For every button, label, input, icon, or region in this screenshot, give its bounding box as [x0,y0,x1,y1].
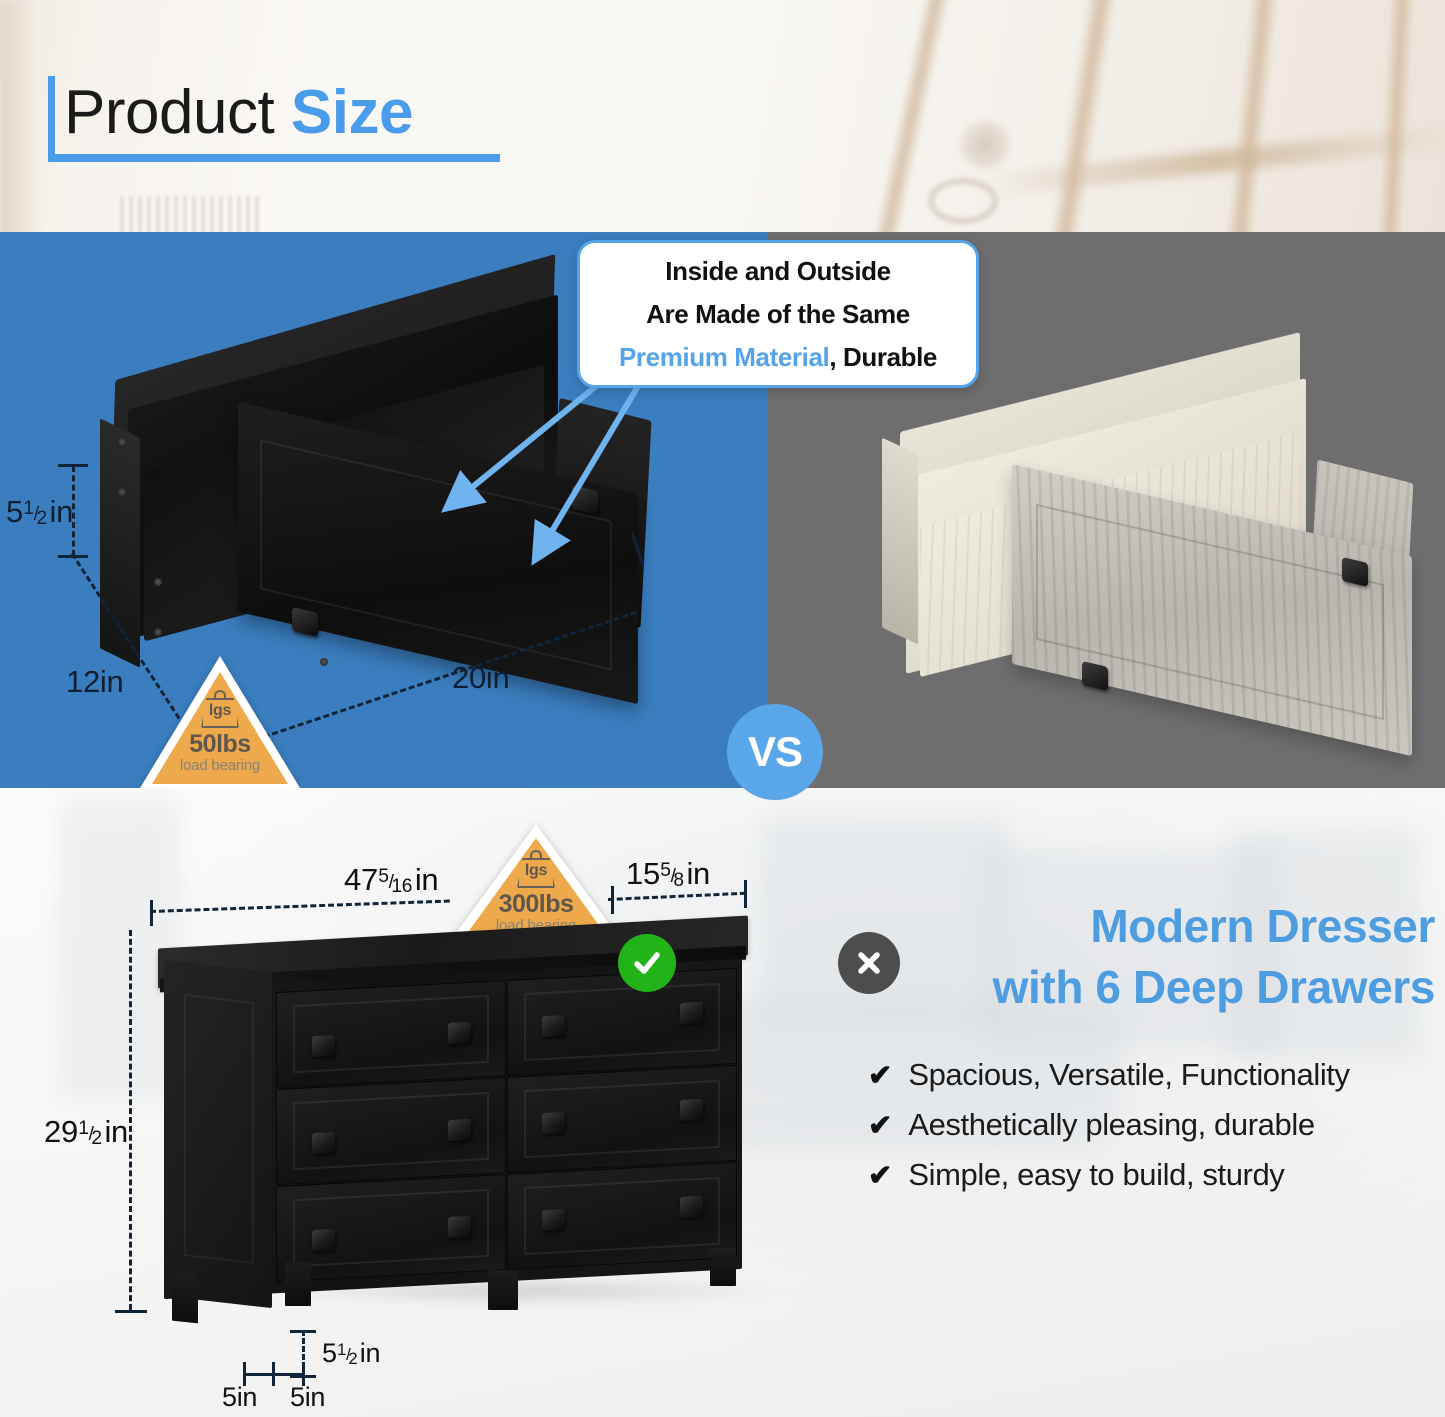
dresser-knob[interactable] [542,1209,565,1231]
background-frame-decor [120,196,260,236]
dim-cap-leg-height-top [290,1330,316,1333]
dim-unit: in [686,856,710,891]
weight-icon-label: lgs [195,702,245,720]
ceiling-beam [1222,0,1285,236]
badge-caption: load bearing [140,757,300,774]
dim-label-leg-width-left: 5in [222,1382,257,1413]
dim-whole: 47 [344,862,378,897]
dresser-drawer[interactable] [276,980,506,1088]
dim-unit: in [360,1338,380,1368]
dim-num: 1 [337,1340,346,1359]
feature-item: ✔ Simple, easy to build, sturdy [868,1158,1438,1192]
dim-whole: 5 [6,494,23,529]
ceiling-beam [1044,0,1125,236]
dim-whole: 5 [322,1338,337,1368]
gray-drawer-knob [1082,661,1108,691]
dresser-leg [172,1273,198,1324]
drawer-screw [118,438,126,446]
callout-line-3: Premium Material, Durable [596,344,960,370]
gray-drawer-left-wall [882,438,918,645]
dim-cap-leg-mid [272,1362,275,1386]
wall-left-blur [0,0,40,236]
dim-cap-dresser-depth-end [744,880,747,908]
dresser-knob[interactable] [680,1196,703,1218]
dresser-drawer[interactable] [276,1077,506,1185]
feature-label: Aesthetically pleasing, durable [908,1108,1314,1142]
dim-unit: in [104,1114,128,1149]
premium-material-callout: Inside and Outside Are Made of the Same … [577,240,979,388]
weight-icon: lgs [195,690,245,728]
check-icon: ✔ [868,1162,892,1191]
vs-badge: VS [727,704,823,800]
dim-whole: 15 [626,856,660,891]
gray-drawer-illustration [860,382,1440,772]
vs-label: VS [748,728,802,776]
page-title: Product Size [48,72,518,162]
drawer-screw [118,488,126,496]
close-icon [853,947,885,979]
dim-cap-dresser-height-bottom [115,1310,147,1313]
dim-den: 2 [36,508,46,529]
weight-icon-label: lgs [511,862,561,880]
dim-unit: in [415,862,439,897]
dim-label-drawer-depth: 12in [66,664,123,700]
feature-item: ✔ Aesthetically pleasing, durable [868,1108,1438,1142]
drawer-screw [154,628,162,636]
callout-arrow-exterior [508,360,658,580]
badge-weight: 50lbs [140,731,300,757]
dim-unit: in [50,494,74,529]
ceiling-beam-horizontal [980,125,1445,197]
dresser-side-panel-inset [184,994,254,1264]
ceiling-beam [1376,0,1418,236]
dim-den: 2 [91,1128,101,1149]
dim-label-dresser-depth: 155/8in [626,856,710,892]
drawer-screw [320,658,328,666]
dim-label-dresser-width: 475/16in [344,862,438,898]
product-headline: Modern Dresser with 6 Deep Drawers [915,896,1435,1017]
callout-line-3-rest: , Durable [829,342,937,372]
check-icon: ✔ [868,1112,892,1141]
load-bearing-badge-50lbs: lgs 50lbs load bearing [140,656,300,788]
dim-num: 5 [660,860,670,881]
check-icon [630,946,664,980]
callout-line-2: Are Made of the Same [596,301,960,327]
dresser-leg [710,1248,736,1286]
dresser-knob[interactable] [542,1015,565,1037]
dresser-leg [488,1270,518,1310]
dim-label-leg-height: 51/2in [322,1338,380,1369]
dresser-knob[interactable] [312,1132,335,1154]
title-text: Product Size [64,69,413,157]
background-knob-blur [960,120,1010,170]
badge-content: lgs 50lbs load bearing [140,690,300,774]
headline-line-1: Modern Dresser [915,896,1435,957]
headline-line-2: with 6 Deep Drawers [915,957,1435,1018]
dresser-knob[interactable] [312,1035,335,1057]
dresser-leg [285,1262,311,1306]
drawer-knob [292,607,318,637]
weight-icon: lgs [511,850,561,888]
callout-highlight: Premium Material [619,342,829,372]
dim-num: 1 [23,498,33,519]
feature-item: ✔ Spacious, Versatile, Functionality [868,1058,1438,1092]
dim-label-dresser-height: 291/2in [44,1114,128,1150]
background-handle-blur [928,178,998,224]
check-icon: ✔ [868,1062,892,1091]
dim-label-leg-width-right: 5in [290,1382,325,1413]
callout-line-1: Inside and Outside [596,258,960,284]
dim-label-drawer-height: 51/2in [6,494,73,530]
dresser-knob[interactable] [680,1002,703,1024]
check-badge [618,934,676,992]
product-infographic: Product Size [0,0,1445,1417]
title-plain: Product [64,78,291,147]
dim-cap-dresser-depth-start [611,886,614,914]
close-badge [838,932,900,994]
dresser-knob[interactable] [448,1022,471,1044]
dresser-knob[interactable] [448,1119,471,1141]
badge-weight: 300lbs [448,891,624,917]
dresser-knob[interactable] [448,1216,471,1238]
dim-num: 1 [78,1118,88,1139]
title-bracket-vertical [48,76,55,156]
title-accent: Size [291,78,413,147]
feature-list: ✔ Spacious, Versatile, Functionality ✔ A… [868,1058,1438,1208]
dim-label-drawer-width: 20in [452,660,509,696]
drawer-screw [154,578,162,586]
dim-den: 2 [348,1349,357,1368]
feature-label: Simple, easy to build, sturdy [908,1158,1284,1192]
dim-den: 16 [391,876,412,897]
dresser-knob[interactable] [312,1229,335,1251]
dresser-drawer-grid [276,968,738,1282]
dim-whole: 29 [44,1114,78,1149]
dim-den: 8 [673,870,683,891]
dresser-knob[interactable] [680,1099,703,1121]
dim-line-dresser-height [129,930,132,1310]
feature-label: Spacious, Versatile, Functionality [908,1058,1349,1092]
dim-num: 5 [378,866,388,887]
dresser-knob[interactable] [542,1112,565,1134]
